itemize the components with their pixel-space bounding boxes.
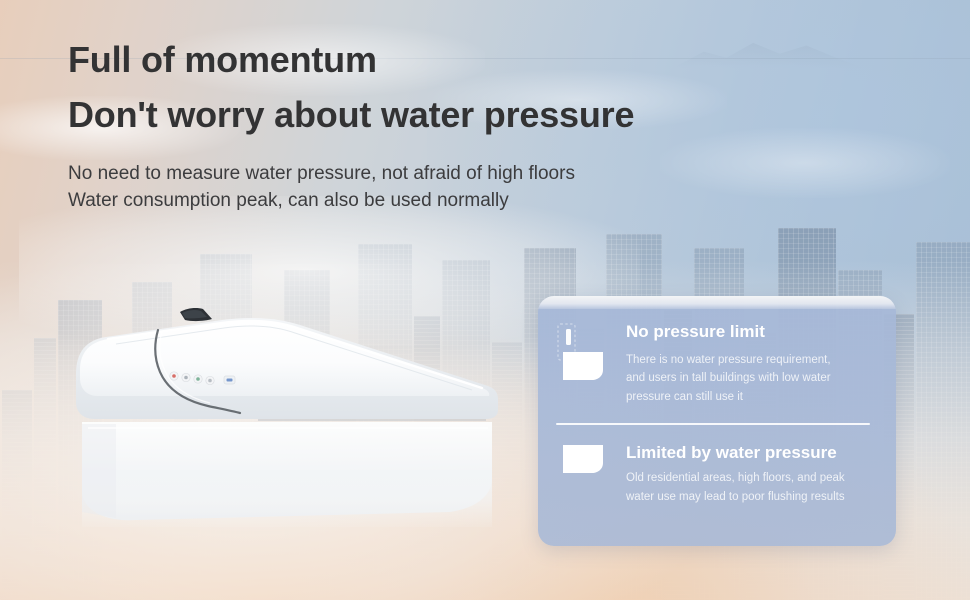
feature-title: Limited by water pressure bbox=[626, 444, 874, 463]
hero-copy: Full of momentum Don't worry about water… bbox=[68, 42, 828, 215]
card-divider bbox=[556, 423, 870, 425]
page-title-line2: Don't worry about water pressure bbox=[68, 97, 828, 133]
hero-subtitle: No need to measure water pressure, not a… bbox=[68, 161, 828, 215]
feature-desc-line: There is no water pressure requirement, bbox=[626, 351, 874, 370]
feature-desc-line: and users in tall buildings with low wat… bbox=[626, 369, 874, 388]
feature-description: Old residential areas, high floors, and … bbox=[626, 469, 874, 506]
feature-desc-line: Old residential areas, high floors, and … bbox=[626, 469, 874, 488]
product-image-smart-toilet bbox=[72, 282, 502, 527]
toilet-bowl-icon bbox=[552, 443, 612, 477]
hero-subtitle-line1: No need to measure water pressure, not a… bbox=[68, 161, 828, 188]
feature-row-no-pressure-limit: No pressure limit There is no water pres… bbox=[552, 322, 874, 407]
feature-desc-line: water use may lead to poor flushing resu… bbox=[626, 488, 874, 507]
feature-row-limited-by-water-pressure: Limited by water pressure Old residentia… bbox=[552, 443, 874, 507]
hero-subtitle-line2: Water consumption peak, can also be used… bbox=[68, 188, 828, 215]
page-title-line1: Full of momentum bbox=[68, 42, 828, 78]
toilet-with-tank-icon bbox=[552, 322, 612, 384]
feature-title: No pressure limit bbox=[626, 323, 874, 342]
feature-description: There is no water pressure requirement, … bbox=[626, 351, 874, 407]
feature-card: No pressure limit There is no water pres… bbox=[538, 296, 896, 546]
feature-desc-line: pressure can still use it bbox=[626, 388, 874, 407]
